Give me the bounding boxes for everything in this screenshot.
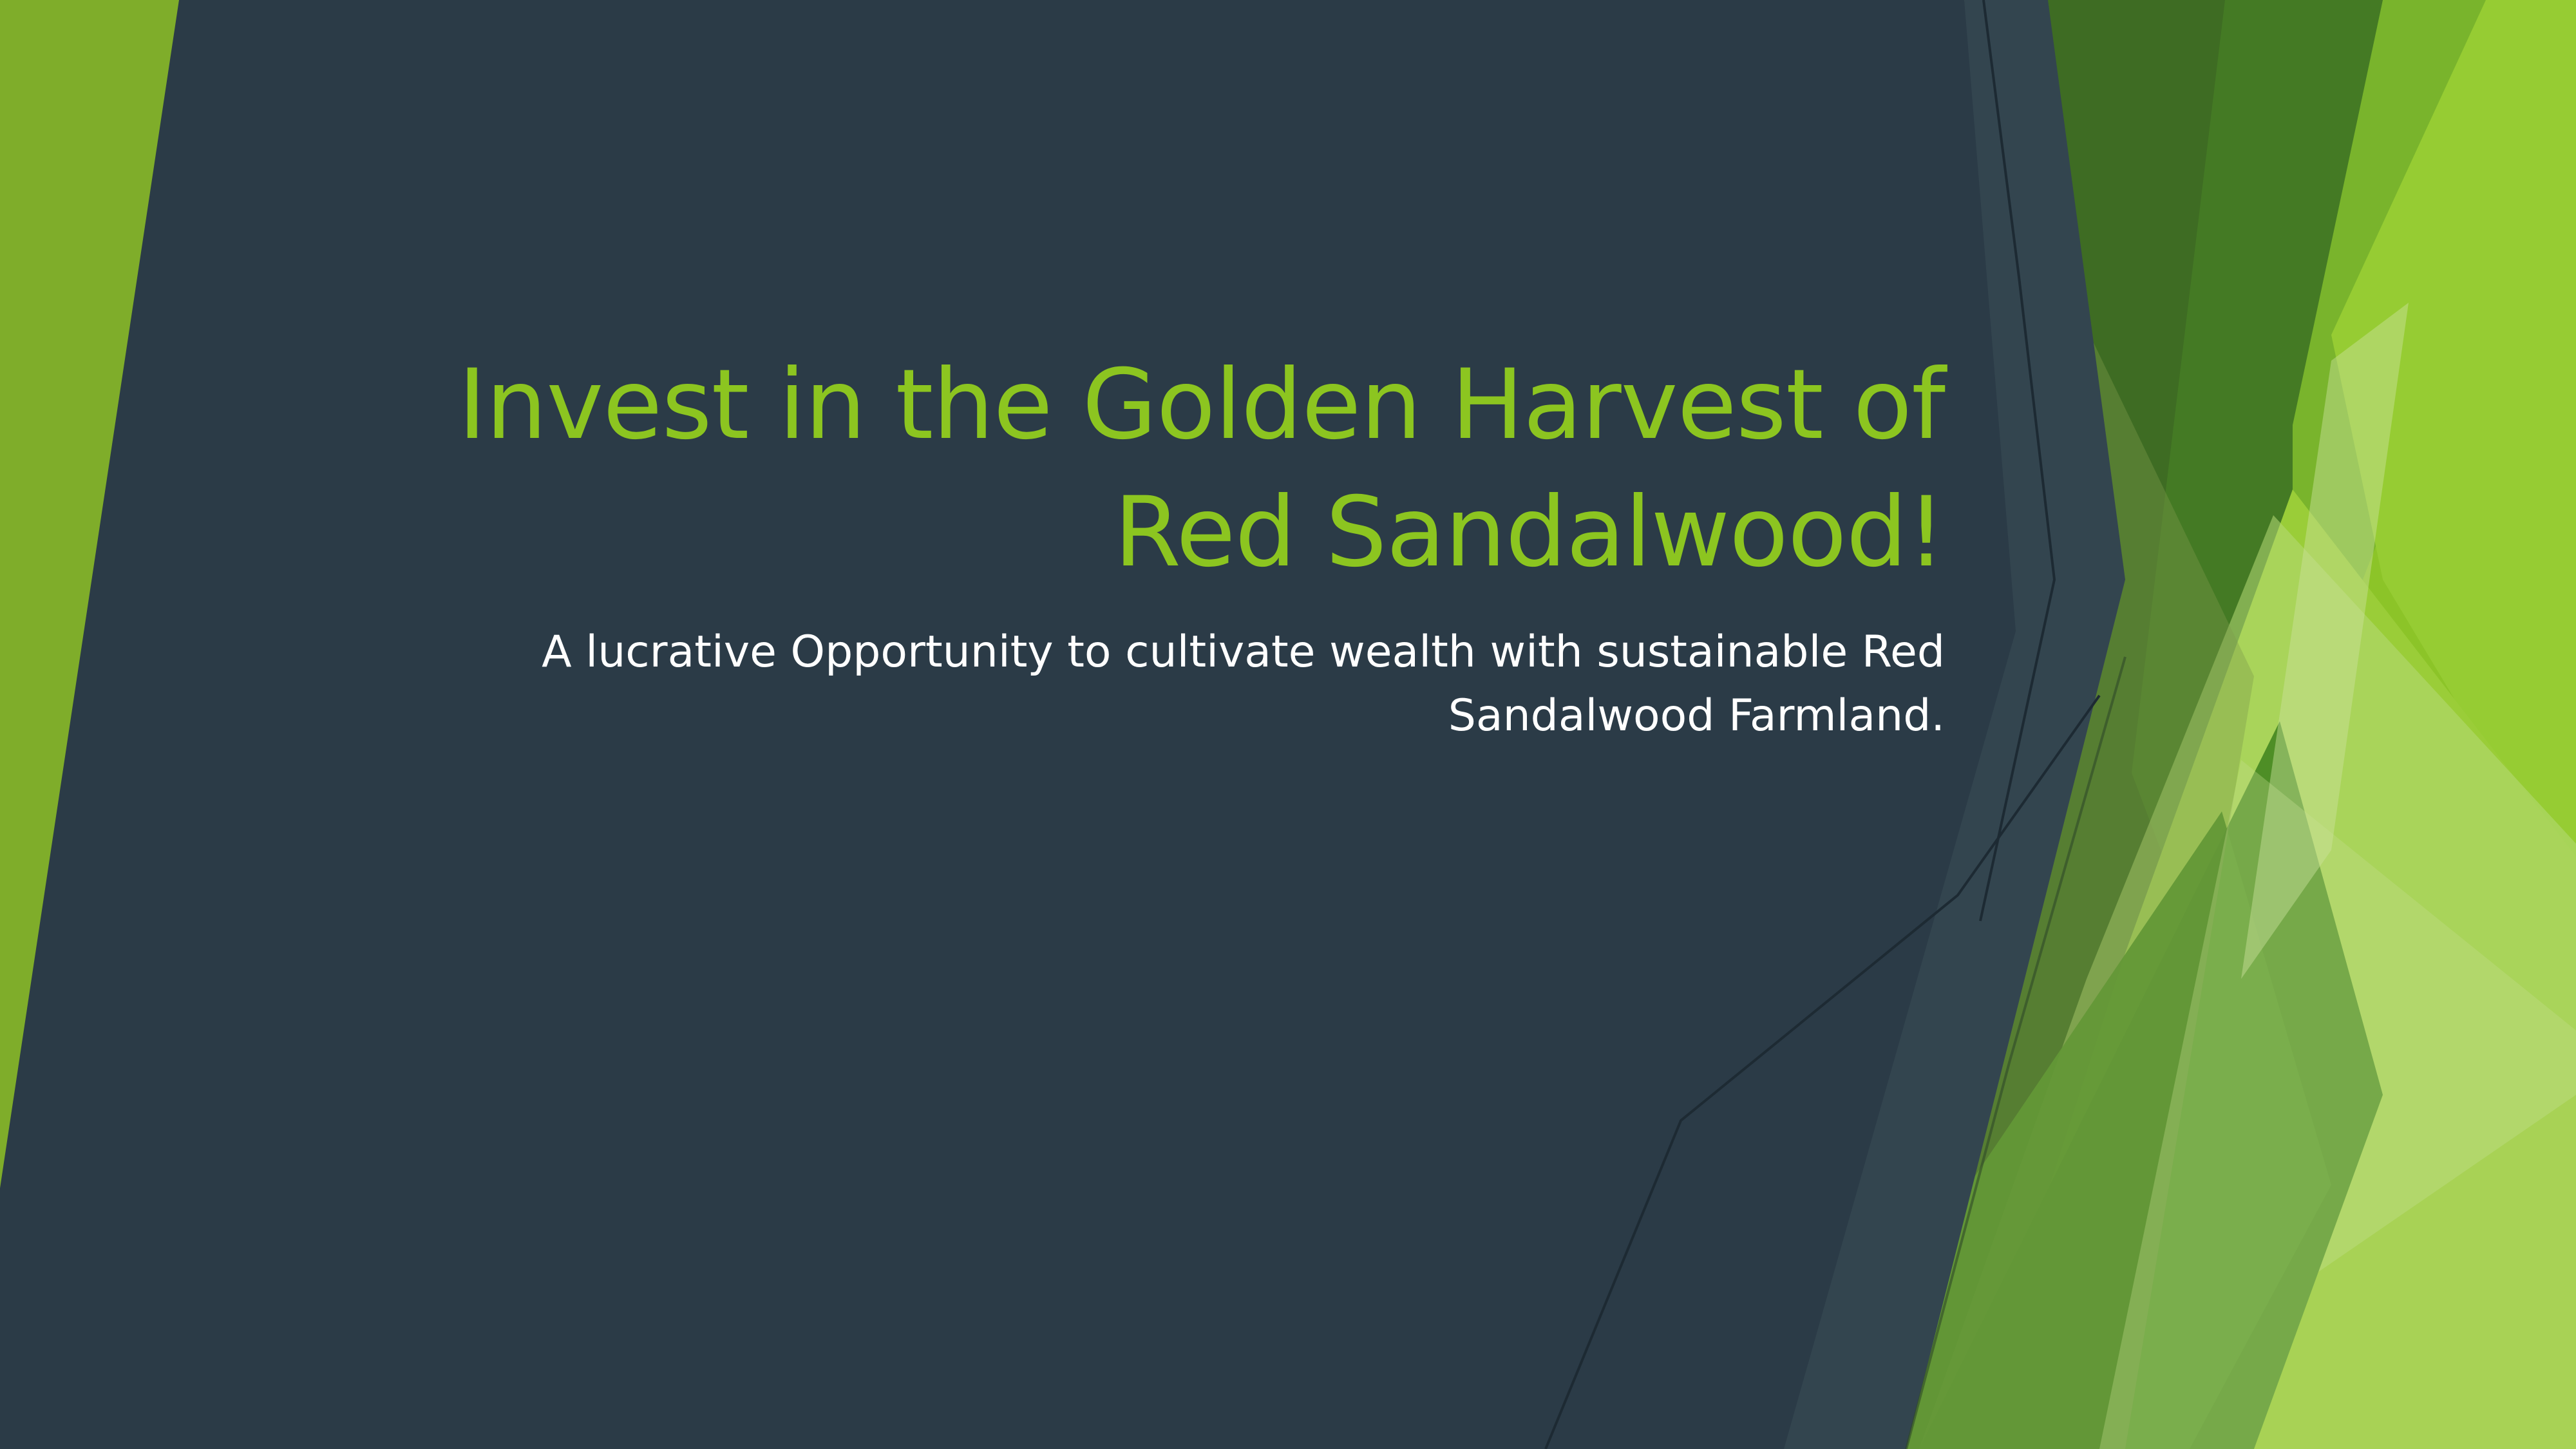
page-title: Invest in the Golden Harvest of Red Sand…: [451, 341, 1945, 596]
title-text-block: Invest in the Golden Harvest of Red Sand…: [451, 341, 1945, 748]
presentation-slide: Invest in the Golden Harvest of Red Sand…: [0, 0, 2576, 1449]
slide-subtitle: A lucrative Opportunity to cultivate wea…: [451, 621, 1945, 748]
